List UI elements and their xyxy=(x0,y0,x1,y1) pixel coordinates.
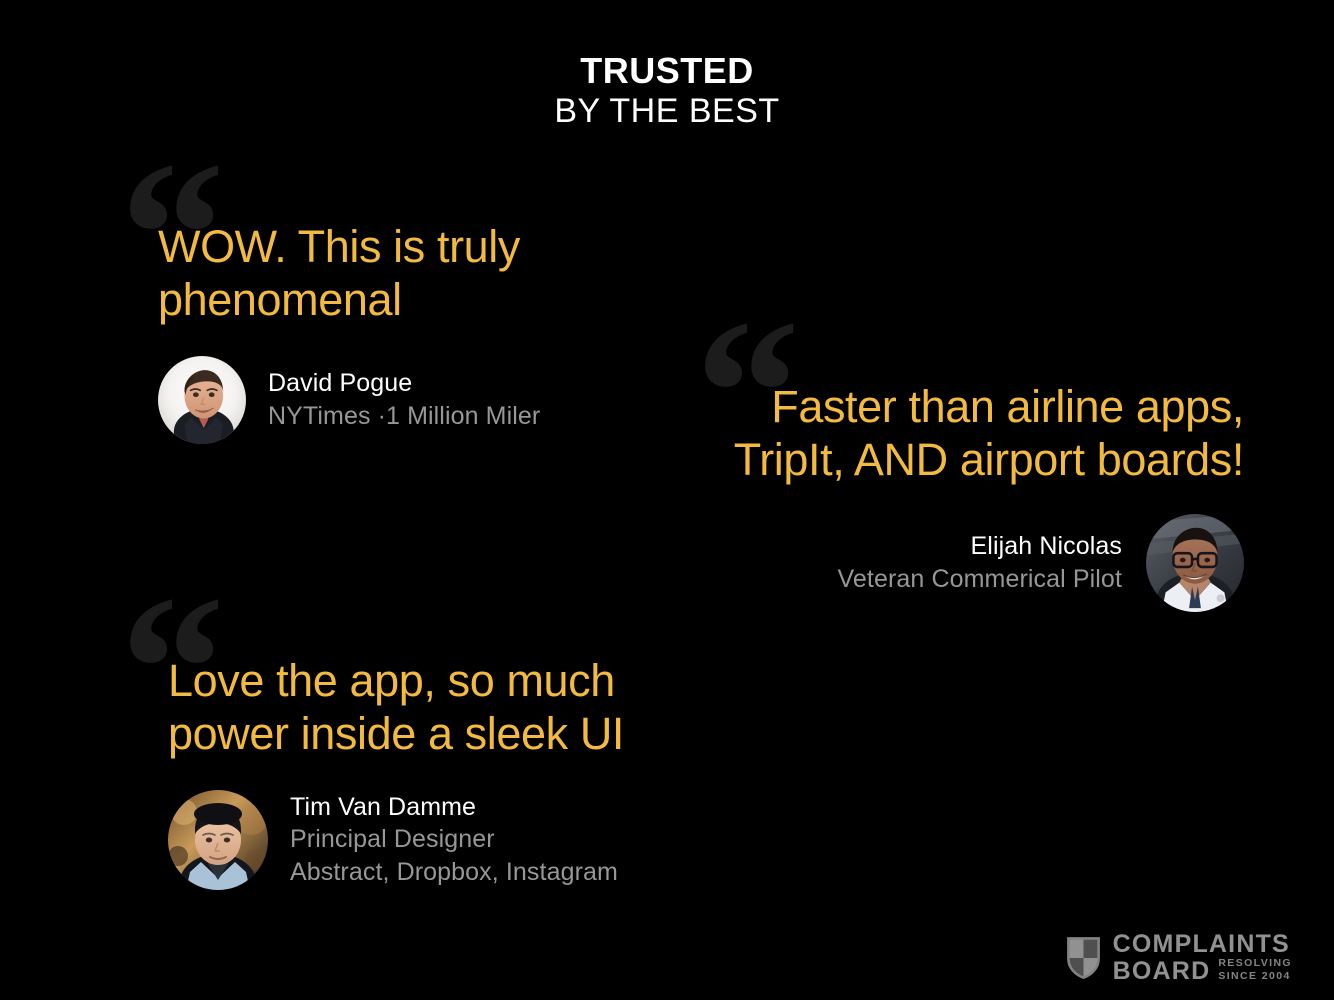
complaints-board-watermark: COMPLAINTS BOARD RESOLVING SINCE 2004 xyxy=(1065,932,1292,984)
testimonial-quote: Faster than airline apps, TripIt, AND ai… xyxy=(640,380,1244,486)
watermark-wordmark: COMPLAINTS BOARD RESOLVING SINCE 2004 xyxy=(1113,932,1292,984)
watermark-tagline: RESOLVING SINCE 2004 xyxy=(1218,957,1292,984)
author-subtitle: NYTimes ·1 Million Miler xyxy=(268,400,540,433)
avatar xyxy=(1146,514,1244,612)
author-text: Elijah Nicolas Veteran Commerical Pilot xyxy=(838,530,1122,596)
avatar xyxy=(158,356,246,444)
author-subtitle: Principal Designer xyxy=(290,823,618,856)
avatar xyxy=(168,790,268,890)
page-title-line-1: TRUSTED xyxy=(0,52,1334,91)
testimonial-quote: WOW. This is truly phenomenal xyxy=(158,220,640,326)
author-name: Tim Van Damme xyxy=(290,791,618,824)
watermark-bottom-row: BOARD RESOLVING SINCE 2004 xyxy=(1113,957,1292,984)
watermark-line-top: COMPLAINTS xyxy=(1113,932,1292,958)
author-name: David Pogue xyxy=(268,367,540,400)
author-name: Elijah Nicolas xyxy=(971,530,1122,563)
testimonial-author: Tim Van Damme Principal Designer Abstrac… xyxy=(168,790,740,890)
watermark-tagline-1: RESOLVING xyxy=(1218,957,1292,970)
shield-icon xyxy=(1065,935,1102,980)
author-subtitle: Veteran Commerical Pilot xyxy=(838,563,1122,596)
author-text: David Pogue NYTimes ·1 Million Miler xyxy=(268,367,540,433)
testimonial-author: David Pogue NYTimes ·1 Million Miler xyxy=(158,356,640,444)
testimonial-card-tim-van-damme: “ Love the app, so much power inside a s… xyxy=(120,602,740,890)
testimonial-card-david-pogue: “ WOW. This is truly phenomenal xyxy=(120,168,640,444)
watermark-tagline-2: SINCE 2004 xyxy=(1218,970,1292,983)
testimonial-author: Elijah Nicolas Veteran Commerical Pilot xyxy=(640,514,1244,612)
author-text: Tim Van Damme Principal Designer Abstrac… xyxy=(290,791,618,890)
testimonial-quote: Love the app, so much power inside a sle… xyxy=(168,654,740,760)
author-subtitle-secondary: Abstract, Dropbox, Instagram xyxy=(290,856,618,889)
testimonial-card-elijah-nicolas: “ Faster than airline apps, TripIt, AND … xyxy=(640,328,1244,612)
watermark-line-bottom: BOARD xyxy=(1113,959,1211,985)
